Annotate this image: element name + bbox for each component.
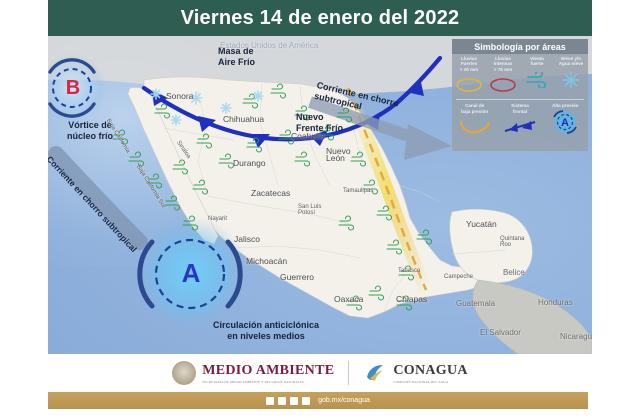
sistema-frontal-icon bbox=[497, 114, 542, 140]
youtube-icon[interactable] bbox=[302, 397, 310, 405]
viento-fuerte-icon bbox=[520, 67, 554, 93]
legend-panel: Simbología por áreas Lluvias Fuertes > 2… bbox=[452, 39, 588, 151]
legend-item-lluvias-fuertes: Lluvias Fuertes > 25 mm bbox=[452, 54, 486, 98]
medio-ambiente-title: MEDIO AMBIENTE bbox=[202, 363, 334, 379]
annotation-nuevo-frente-frio: Nuevo Frente Frío bbox=[296, 112, 343, 134]
mexico-seal-icon bbox=[172, 361, 196, 385]
footer-gold-bar: gob.mx/conagua bbox=[48, 392, 588, 409]
weather-map-page: Viernes 14 de enero del 2022 bbox=[0, 0, 640, 417]
legend-item-lluvias-intensas: Lluvias Intensas > 75 mm bbox=[486, 54, 520, 98]
conagua-logo-icon bbox=[363, 361, 387, 385]
high-pressure-symbol: A bbox=[178, 256, 204, 290]
legend-item-nieve: Nieve y/o Agua nieve bbox=[554, 54, 588, 98]
instagram-icon[interactable] bbox=[290, 397, 298, 405]
legend-row-systems: Canal de baja presión Sistema frontal bbox=[452, 101, 588, 140]
legend-title: Simbología por áreas bbox=[452, 39, 588, 54]
low-pressure-symbol: B bbox=[62, 74, 84, 102]
frente-line2: Frente Frío bbox=[296, 123, 343, 134]
frente-line1: Nuevo bbox=[296, 112, 343, 123]
nv-l2: Agua nieve bbox=[554, 61, 588, 66]
footer-brand: MEDIO AMBIENTE SECRETARÍA DE MEDIO AMBIE… bbox=[48, 354, 592, 392]
alta-presion-letter: A bbox=[561, 117, 569, 129]
vortice-line1: Vórtice de bbox=[48, 120, 136, 131]
vortice-line2: núcleo frío bbox=[48, 131, 136, 142]
brand-divider bbox=[348, 361, 349, 385]
lluvias-intensas-icon bbox=[486, 72, 520, 98]
legend-divider bbox=[456, 99, 584, 100]
masa-line1: Masa de bbox=[218, 46, 255, 57]
annotation-masa-aire-frio: Masa de Aire Frío bbox=[218, 46, 255, 68]
legend-item-sistema-frontal: Sistema frontal bbox=[497, 101, 542, 140]
legend-item-viento-fuerte: Viento fuerte bbox=[520, 54, 554, 98]
page-title: Viernes 14 de enero del 2022 bbox=[181, 7, 460, 30]
legend-row-areas: Lluvias Fuertes > 25 mm Lluvias Intensas… bbox=[452, 54, 588, 98]
medio-ambiente-brand: MEDIO AMBIENTE SECRETARÍA DE MEDIO AMBIE… bbox=[172, 361, 334, 385]
weather-map: B A Masa de Aire Frío Nuevo Frente Frío … bbox=[48, 36, 592, 354]
medio-ambiente-subtitle: SECRETARÍA DE MEDIO AMBIENTE Y RECURSOS … bbox=[202, 380, 334, 384]
conagua-subtitle: COMISIÓN NACIONAL DEL AGUA bbox=[393, 380, 467, 384]
facebook-icon[interactable] bbox=[266, 397, 274, 405]
legend-item-canal-baja-presion: Canal de baja presión bbox=[452, 101, 497, 140]
conagua-title: CONAGUA bbox=[393, 363, 467, 379]
circ-line1: Circulación anticiclónica bbox=[176, 320, 356, 331]
gobmx-url[interactable]: gob.mx/conagua bbox=[318, 397, 370, 404]
nieve-icon bbox=[554, 67, 588, 93]
legend-item-alta-presion: Alta presión A bbox=[543, 101, 588, 140]
lluvias-fuertes-icon bbox=[452, 72, 486, 98]
conagua-brand: CONAGUA COMISIÓN NACIONAL DEL AGUA bbox=[363, 361, 467, 385]
twitter-icon[interactable] bbox=[278, 397, 286, 405]
alta-presion-icon: A bbox=[543, 109, 588, 135]
circ-line2: en niveles medios bbox=[176, 331, 356, 342]
annotation-vortice-nucleo-frio: Vórtice de núcleo frío bbox=[48, 120, 136, 142]
canal-baja-presion-icon bbox=[452, 114, 497, 140]
annotation-circulacion-anticiclonica: Circulación anticiclónica en niveles med… bbox=[176, 320, 356, 342]
title-bar: Viernes 14 de enero del 2022 bbox=[48, 0, 592, 36]
masa-line2: Aire Frío bbox=[218, 57, 255, 68]
